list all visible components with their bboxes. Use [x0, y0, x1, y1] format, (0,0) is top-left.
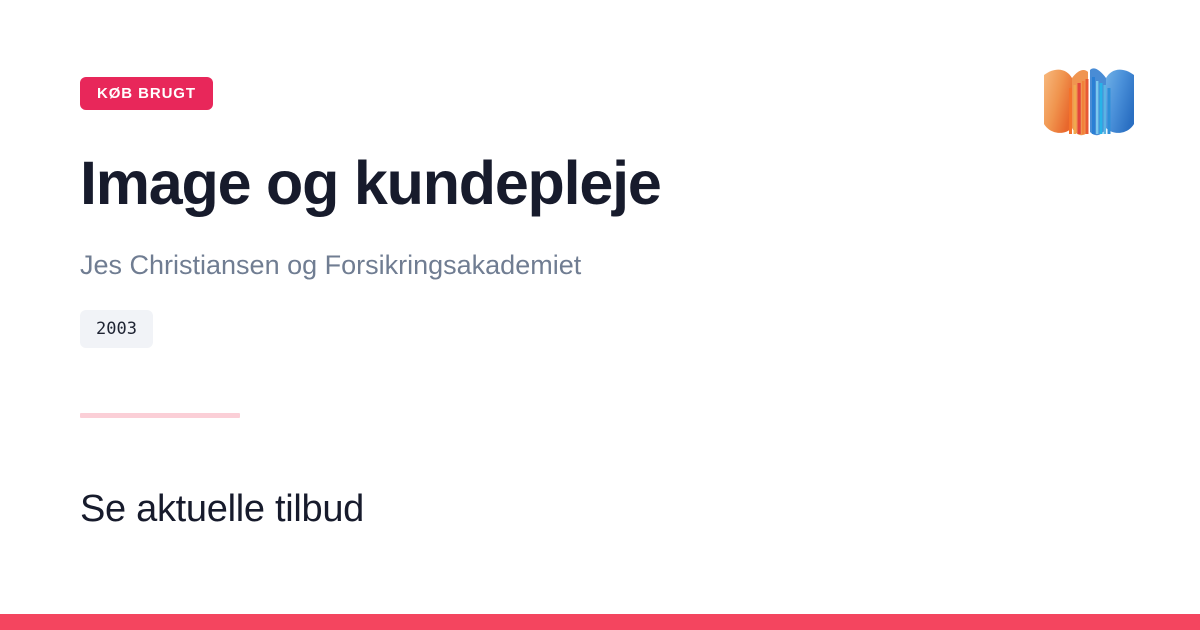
- logo-mark: [1044, 68, 1134, 135]
- section-divider: [80, 413, 240, 418]
- author-publisher-subtitle: Jes Christiansen og Forsikringsakademiet: [80, 249, 581, 283]
- brand-logo: [1034, 50, 1144, 158]
- year-chip: 2003: [80, 310, 153, 348]
- status-badge: KØB BRUGT: [80, 77, 213, 110]
- bottom-accent-bar: [0, 614, 1200, 630]
- page-title: Image og kundepleje: [80, 151, 661, 216]
- butterfly-barcode-logo-icon: [1034, 50, 1144, 158]
- share-card: KØB BRUGT Image og kundepleje Jes Christ…: [0, 0, 1200, 630]
- cta-heading: Se aktuelle tilbud: [80, 486, 364, 534]
